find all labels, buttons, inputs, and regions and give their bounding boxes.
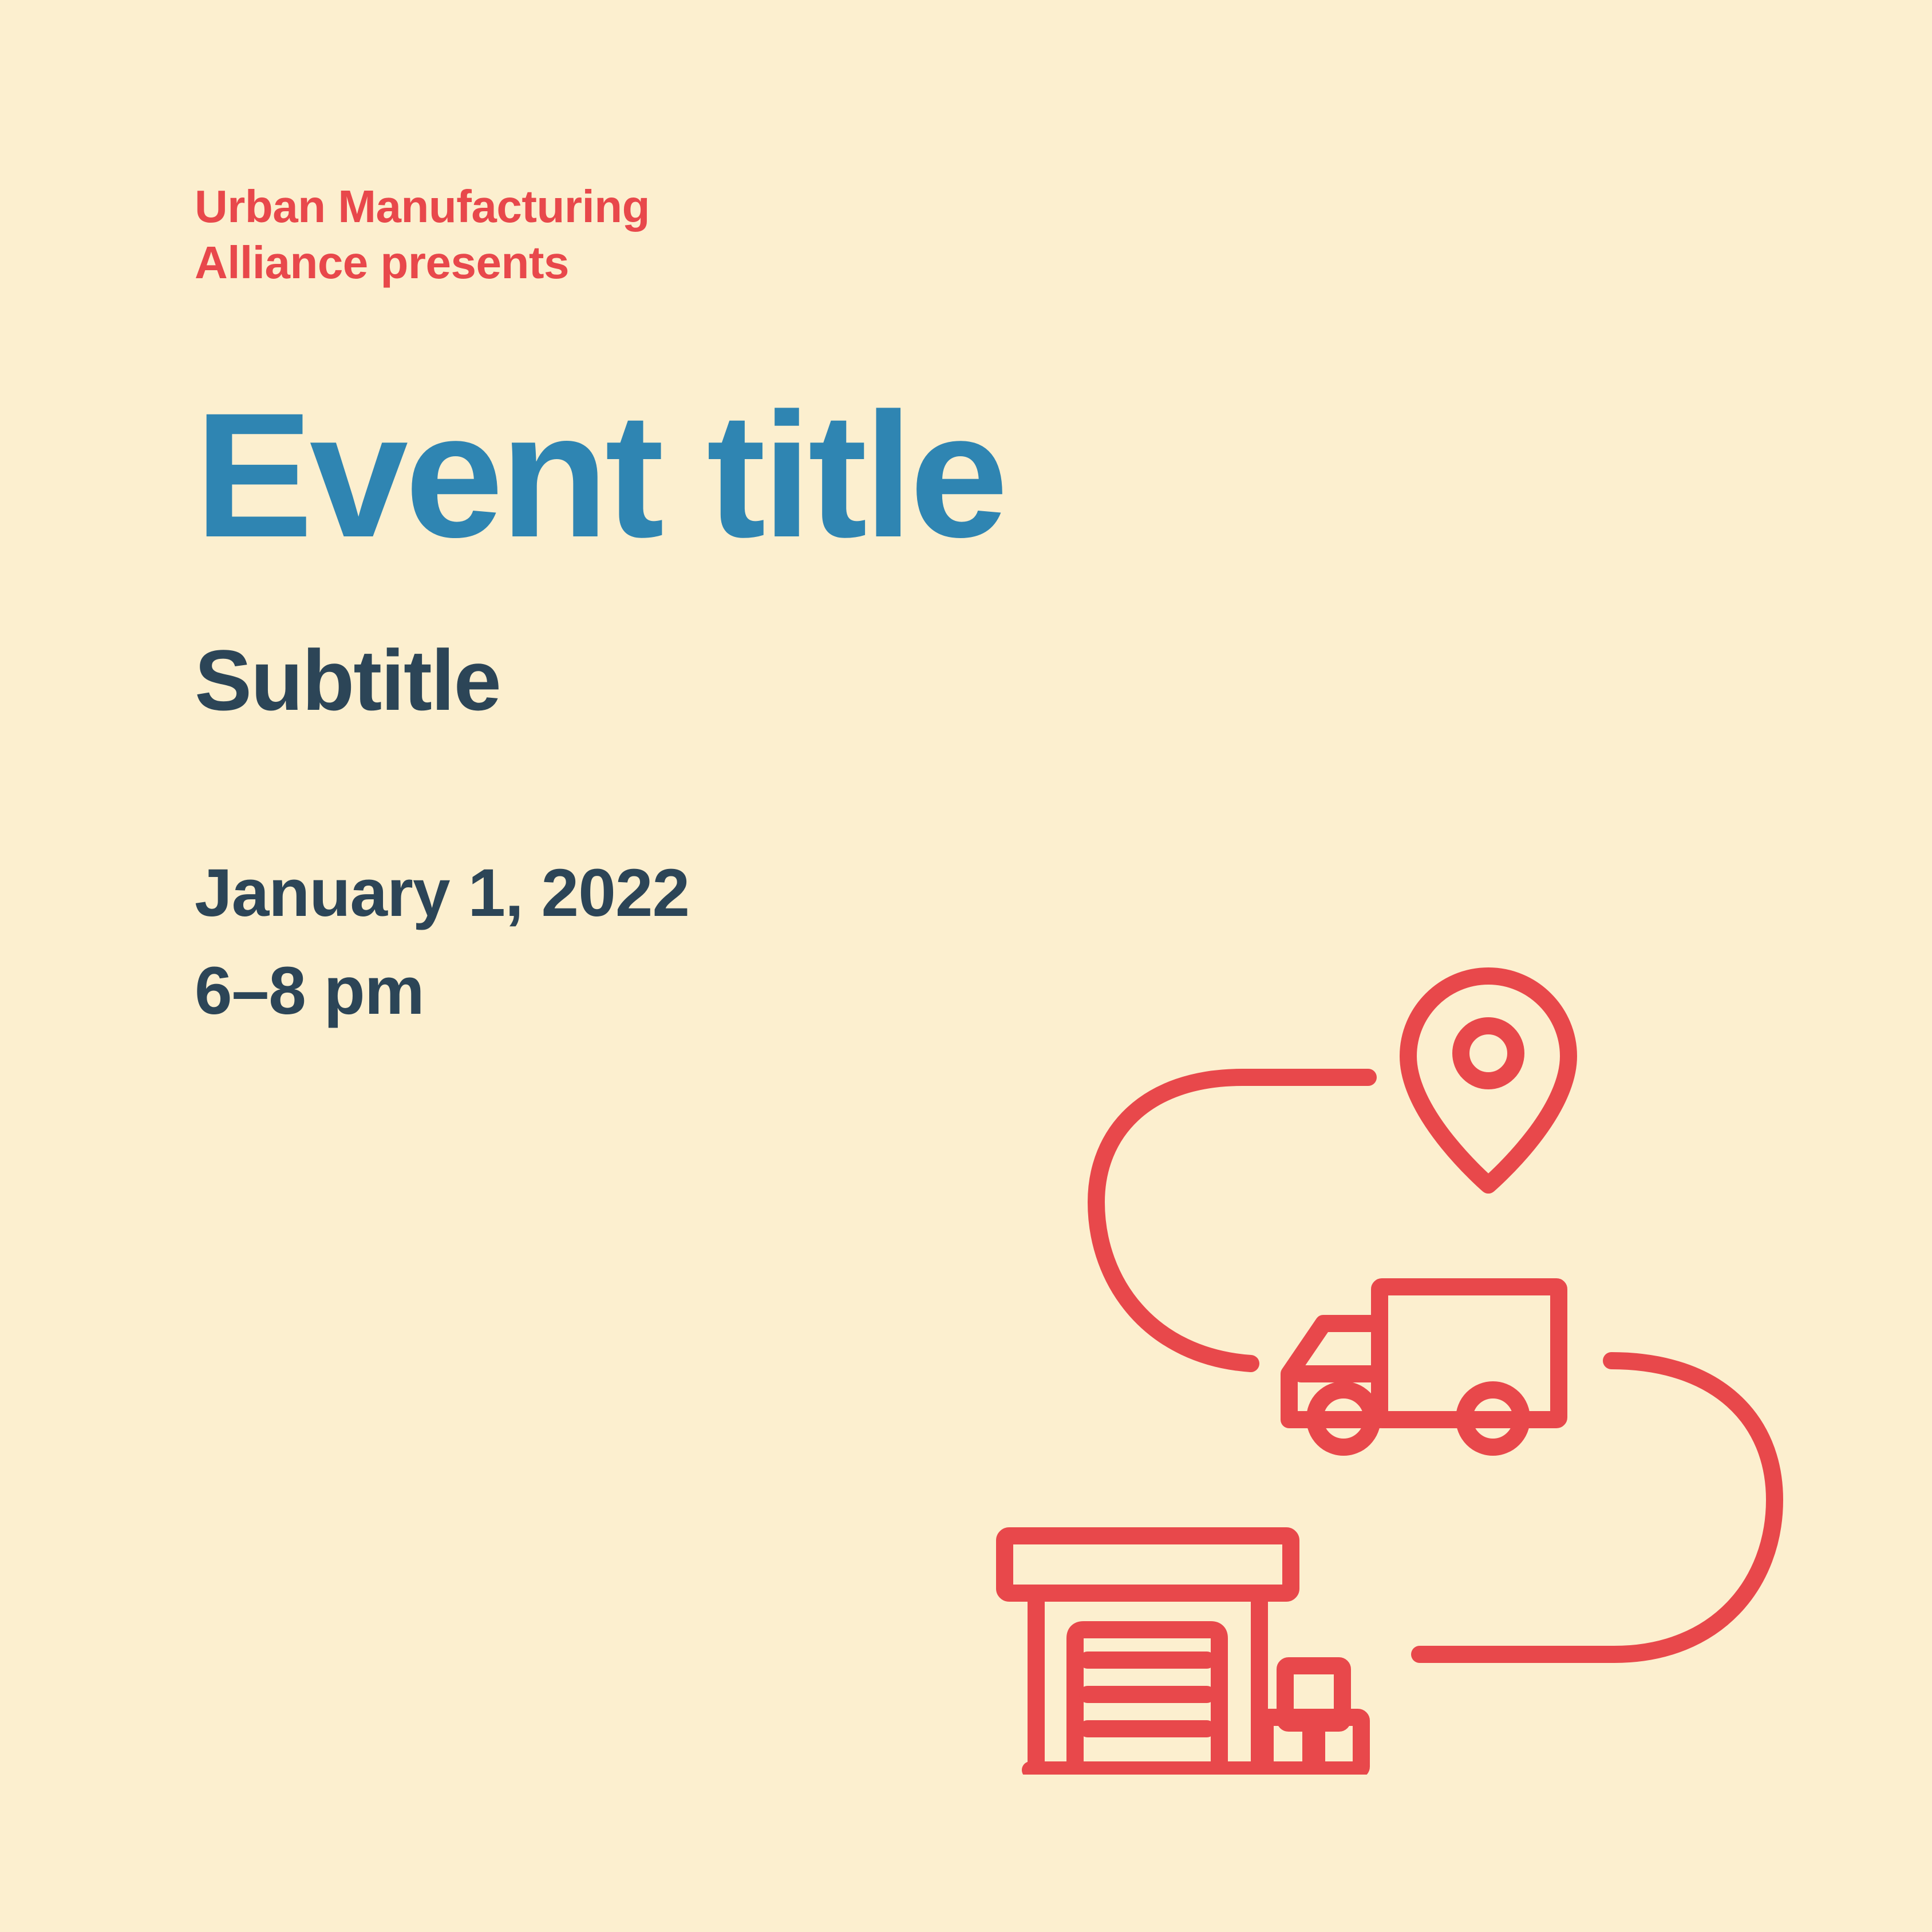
page-title: Event title xyxy=(195,386,1340,564)
poster-text-block: Urban Manufacturing Alliance presents Ev… xyxy=(195,179,1340,1040)
presenter-label: Urban Manufacturing Alliance presents xyxy=(195,179,1340,290)
delivery-truck-icon xyxy=(1289,1287,1559,1447)
location-pin-icon xyxy=(1408,976,1568,1185)
event-poster: Urban Manufacturing Alliance presents Ev… xyxy=(0,0,1932,1932)
warehouse-roof xyxy=(1005,1536,1291,1593)
page-subtitle: Subtitle xyxy=(195,637,1340,723)
box-bottom-right xyxy=(1311,1717,1361,1770)
location-pin-center-ring xyxy=(1461,1026,1516,1081)
stacked-boxes-icon xyxy=(1265,1666,1361,1770)
logistics-route-illustration xyxy=(973,916,1832,1775)
